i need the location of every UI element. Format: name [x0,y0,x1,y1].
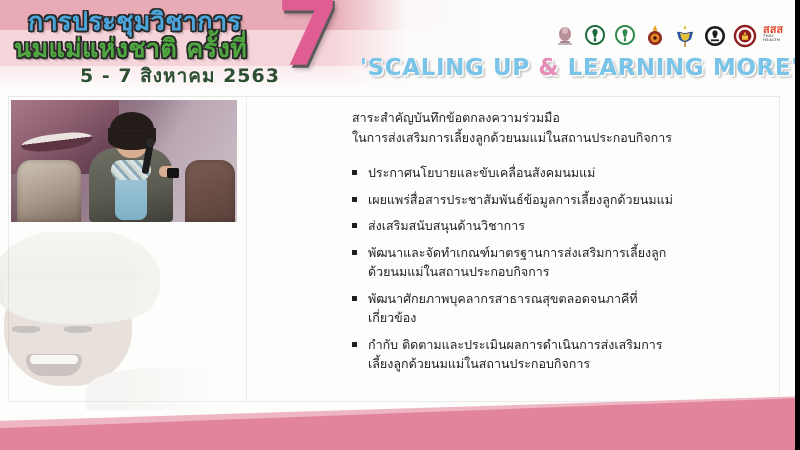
list-item: เผยแพร่สื่อสารประชาสัมพันธ์ข้อมูลการเลี้… [352,190,776,210]
heading-line-1: สาระสำคัญบันทึกข้อตกลงความร่วมมือ [352,108,776,128]
bullet-square-icon [352,223,357,228]
royal-garuda-logo [673,24,697,48]
bullet-square-icon [352,296,357,301]
heading-line-2: ในการส่งเสริมการเลี้ยงลูกด้วยนมแม่ในสถาน… [352,128,776,148]
royal-crest-red-logo [643,24,667,48]
bullet-text: ประกาศนโยบายและขับเคลื่อนสังคมนมแม่ [368,165,595,180]
clicker-remote [167,168,179,178]
smiling-child-watermark [0,232,244,410]
thaihealth-sub: THAI HEALTH [763,35,787,42]
eyeglasses-icon [117,130,147,138]
bullet-square-icon [352,197,357,202]
bullet-text-cont: เลี้ยงลูกด้วยนมแม่ในสถานประกอบกิจการ [368,354,776,374]
column-divider [246,96,247,402]
tagline-part-two: LEARNING MORE' [559,55,799,81]
organization-logo-strip: สสส THAI HEALTH [553,24,787,48]
conference-date: 5 - 7 สิงหาคม 2563 [80,61,280,91]
bullet-square-icon [352,250,357,255]
bullet-list: ประกาศนโยบายและขับเคลื่อนสังคมนมแม่ เผยแ… [352,163,776,374]
list-item: กำกับ ติดตามและประเมินผลการดำเนินการส่งเ… [352,335,776,374]
tagline-part-one: 'SCALING UP [360,55,538,81]
edition-number: 7 [276,0,340,80]
presentation-slide: 7 การประชุมวิชาการ นมแม่แห่งชาติ ครั้งที… [0,0,800,450]
speaker-presentation-thumbnail[interactable] [11,100,237,222]
list-item: พัฒนาศักยภาพบุคลากรสาธารณสุขตลอดจนภาคีที… [352,289,776,328]
bullet-square-icon [352,342,357,347]
bullet-text-cont: ด้วยนมแม่ในสถานประกอบกิจการ [368,262,776,282]
bullet-text: ส่งเสริมสนับสนุนด้านวิชาการ [368,218,525,233]
bullet-text: เผยแพร่สื่อสารประชาสัมพันธ์ข้อมูลการเลี้… [368,192,673,207]
list-item: ส่งเสริมสนับสนุนด้านวิชาการ [352,216,776,236]
red-seal-logo [733,24,757,48]
armchair-right [185,160,235,222]
list-item: พัฒนาและจัดทำเกณฑ์มาตรฐานการส่งเสริมการเ… [352,243,776,282]
bullet-text-cont: เกี่ยวข้อง [368,308,776,328]
content-heading: สาระสำคัญบันทึกข้อตกลงความร่วมมือ ในการส… [352,108,776,148]
black-seal-logo [703,24,727,48]
conference-tagline: 'SCALING UP & LEARNING MORE' [360,55,799,81]
royal-emblem-logo [553,24,577,48]
armchair-left [17,160,81,222]
bullet-text: พัฒนาศักยภาพบุคลากรสาธารณสุขตลอดจนภาคีที… [368,291,638,306]
ministry-of-public-health-logo [583,24,607,48]
thaihealth-sso-logo: สสส THAI HEALTH [763,24,787,48]
list-item: ประกาศนโยบายและขับเคลื่อนสังคมนมแม่ [352,163,776,183]
bullet-text: พัฒนาและจัดทำเกณฑ์มาตรฐานการส่งเสริมการเ… [368,245,666,260]
tagline-ampersand: & [538,55,559,81]
slide-content-column: สาระสำคัญบันทึกข้อตกลงความร่วมมือ ในการส… [352,108,776,381]
bullet-square-icon [352,170,357,175]
department-of-health-logo [613,24,637,48]
bullet-text: กำกับ ติดตามและประเมินผลการดำเนินการส่งเ… [368,337,663,352]
